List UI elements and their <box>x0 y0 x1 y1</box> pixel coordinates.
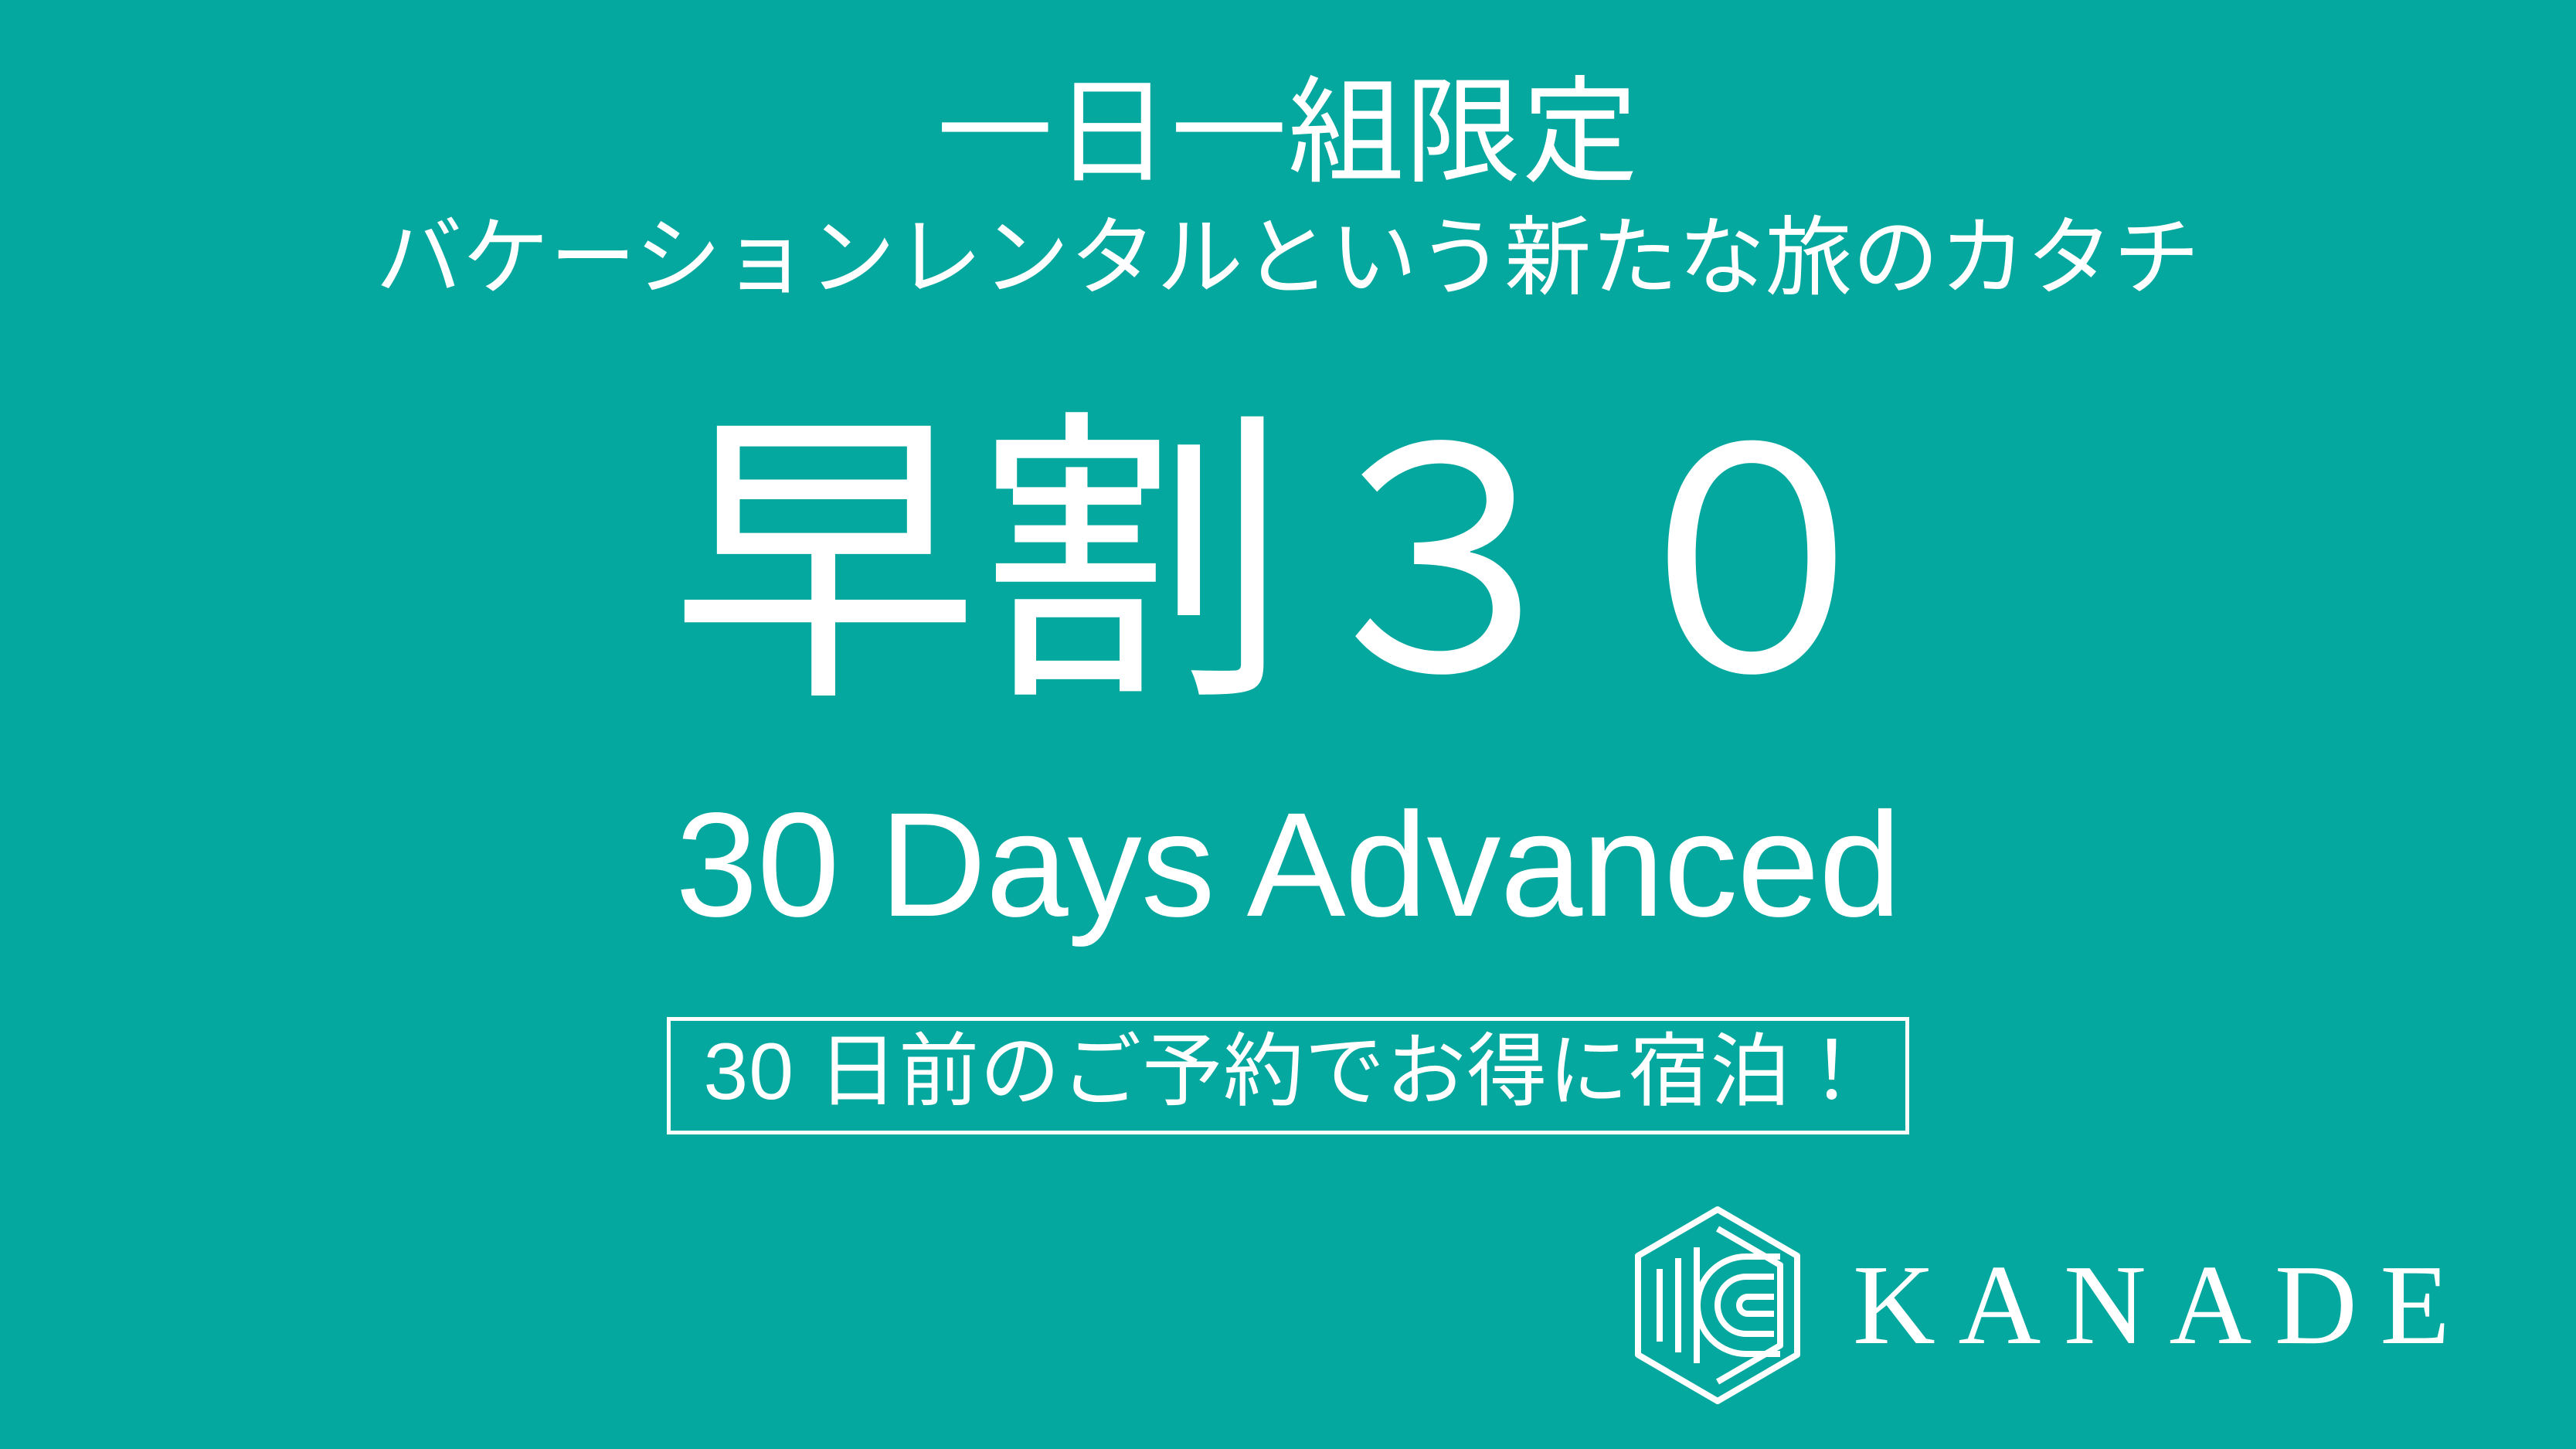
page-title: 早割３０ <box>0 402 2576 726</box>
eyebrow-line-2: バケーションレンタルという新たな旅のカタチ <box>0 215 2576 301</box>
promo-poster: 一日一組限定 バケーションレンタルという新たな旅のカタチ 早割３０ 30 Day… <box>0 0 2576 1449</box>
note-text: 30 日前のご予約でお得に宿泊！ <box>703 1027 1872 1117</box>
subtitle-english: 30 Days Advanced <box>0 787 2576 943</box>
brand-name: KANADE <box>1848 1248 2472 1362</box>
note-box: 30 日前のご予約でお得に宿泊！ <box>667 1017 1908 1134</box>
brand-lockup: KANADE <box>1630 1206 2472 1405</box>
note-container: 30 日前のご予約でお得に宿泊！ <box>0 1017 2576 1134</box>
eyebrow-block: 一日一組限定 バケーションレンタルという新たな旅のカタチ <box>0 74 2576 301</box>
eyebrow-line-1: 一日一組限定 <box>0 74 2576 190</box>
kanade-hexagon-logo-icon <box>1630 1206 1805 1405</box>
